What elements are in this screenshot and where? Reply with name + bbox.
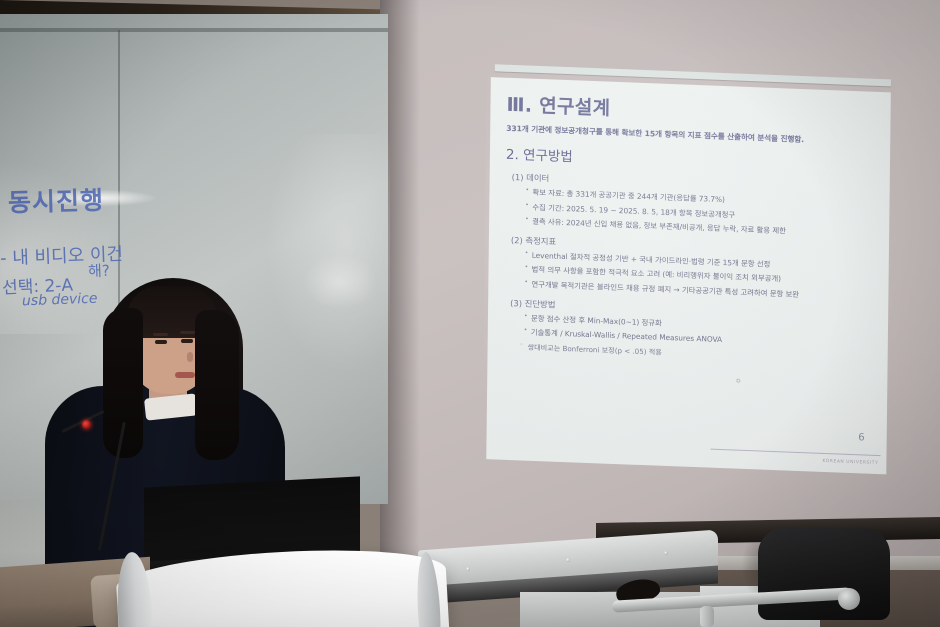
whiteboard-glare-spot (300, 252, 380, 312)
room-scene: 동시진행 - 내 비디오 이건 해? 선택: 2-A usb device Ⅲ.… (0, 0, 940, 627)
whiteboard-note-1: 동시진행 (8, 181, 105, 220)
bullet-list: 확보 자료: 총 331개 공공기관 중 244개 기관(응답률 73.7%) … (525, 187, 873, 239)
chrome-rail-joint (838, 588, 860, 610)
slide-group-diagnosis: (3) 진단방법 문항 점수 산정 후 Min-Max(0~1) 정규화 기술통… (504, 296, 873, 364)
office-chair[interactable] (758, 528, 890, 620)
slide-footer-logo: KOREAN UNIVERSITY (822, 459, 878, 466)
screw-icon (466, 567, 470, 571)
slide-footer-rule (710, 448, 880, 456)
mouth (175, 372, 195, 378)
slide-group-measures: (2) 측정지표 Leventhal 절차적 공정성 기반 + 국내 가이드라인… (504, 234, 873, 303)
slide-group-data: (1) 데이터 확보 자료: 총 331개 공공기관 중 244개 기관(응답률… (505, 171, 874, 240)
eyebrow-right (180, 331, 195, 334)
nose (187, 352, 193, 362)
slide-section-heading: 2. 연구방법 (506, 143, 874, 177)
projection-artifact (736, 379, 740, 383)
microphone-led-icon (82, 420, 91, 429)
projected-slide: Ⅲ. 연구설계 331개 기관에 정보공개청구를 통해 확보한 15개 항목의 … (482, 64, 895, 488)
slide-page-number: 6 (858, 432, 865, 443)
screw-icon (566, 558, 570, 562)
bullet-list: Leventhal 절차적 공정성 기반 + 국내 가이드라인·법령 기준 15… (524, 250, 872, 302)
hair-right (195, 310, 239, 460)
screw-icon (664, 551, 668, 555)
eye-left (155, 340, 167, 344)
eye-right (181, 339, 193, 343)
slide-canvas: Ⅲ. 연구설계 331개 기관에 정보공개청구를 통해 확보한 15개 항목의 … (486, 77, 891, 474)
chrome-rail-post (700, 606, 714, 627)
whiteboard-top-edge (0, 28, 388, 32)
eyebrow-left (153, 333, 168, 336)
